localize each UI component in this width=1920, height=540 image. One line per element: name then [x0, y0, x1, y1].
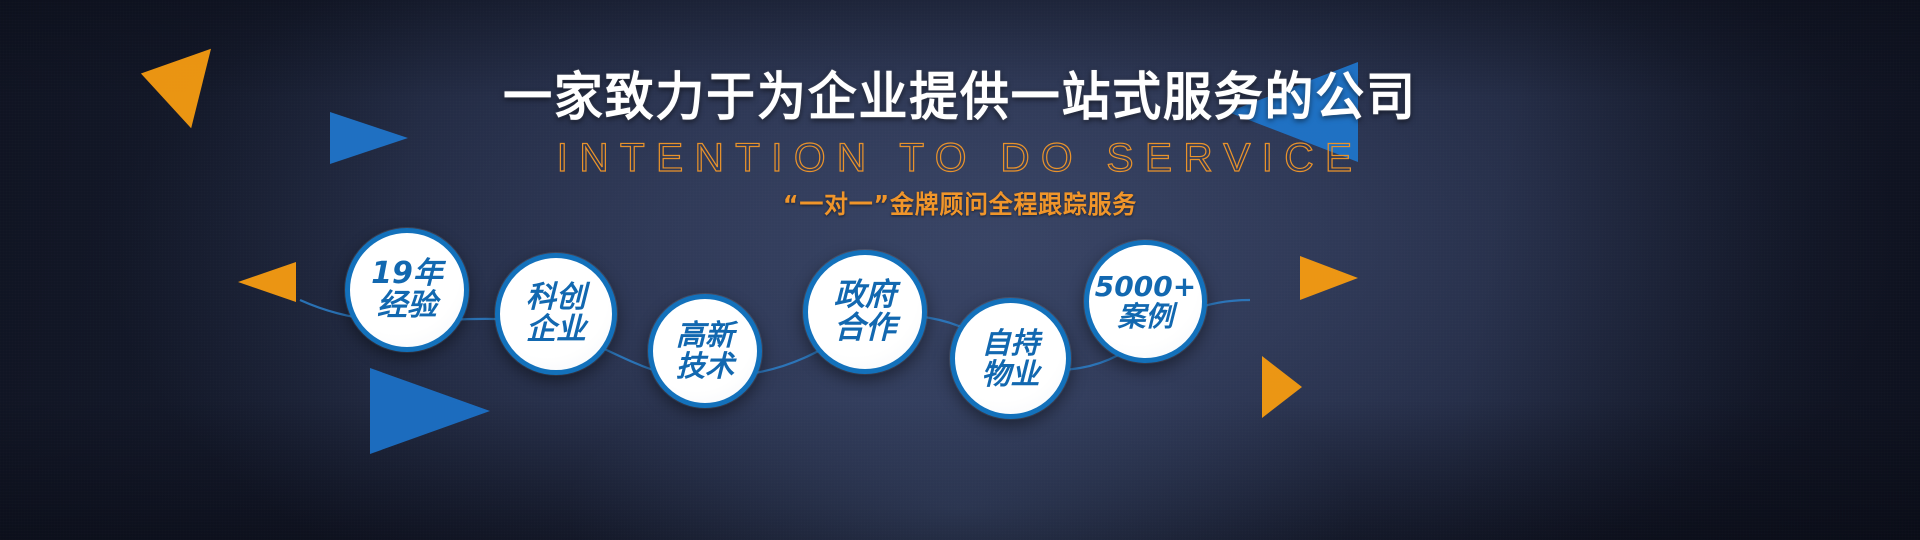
feature-badge-5[interactable]: 自持物业 — [950, 298, 1071, 419]
feature-badge-6[interactable]: 5000+案例 — [1084, 240, 1207, 363]
feature-badge-1[interactable]: 19年经验 — [345, 228, 469, 352]
subtitle-english: INTENTION TO DO SERVICE — [0, 138, 1920, 178]
headline-block: 一家致力于为企业提供一站式服务的公司 INTENTION TO DO SERVI… — [0, 72, 1920, 217]
subtitle-chinese: “一对一”金牌顾问全程跟踪服务 — [48, 192, 1872, 217]
triangle-orange-bottom-right — [1262, 356, 1302, 418]
feature-badge-2[interactable]: 科创企业 — [495, 253, 617, 375]
feature-badge-6-line-1: 5000+ — [1095, 272, 1196, 302]
feature-badge-3-line-2: 技术 — [676, 351, 734, 382]
feature-badge-4-line-1: 政府 — [834, 279, 896, 312]
triangle-orange-mid-right — [1300, 256, 1358, 300]
promo-banner: 一家致力于为企业提供一站式服务的公司 INTENTION TO DO SERVI… — [0, 0, 1920, 540]
feature-badge-5-line-1: 自持 — [981, 328, 1039, 359]
feature-badge-4-line-2: 合作 — [834, 312, 896, 345]
triangle-blue-bottom-left — [370, 368, 490, 454]
feature-badge-3-line-1: 高新 — [676, 320, 734, 351]
page-title: 一家致力于为企业提供一站式服务的公司 — [58, 72, 1863, 124]
feature-badge-5-line-2: 物业 — [981, 359, 1039, 390]
feature-badge-6-line-2: 案例 — [1117, 302, 1173, 332]
feature-badge-1-line-1: 19年 — [371, 258, 443, 290]
feature-badge-4[interactable]: 政府合作 — [803, 250, 927, 374]
triangle-orange-mid-left — [238, 262, 296, 302]
feature-badge-3[interactable]: 高新技术 — [648, 294, 762, 408]
feature-badge-2-line-1: 科创 — [526, 282, 586, 314]
feature-badge-2-line-2: 企业 — [526, 314, 586, 346]
feature-badge-1-line-2: 经验 — [377, 290, 437, 322]
